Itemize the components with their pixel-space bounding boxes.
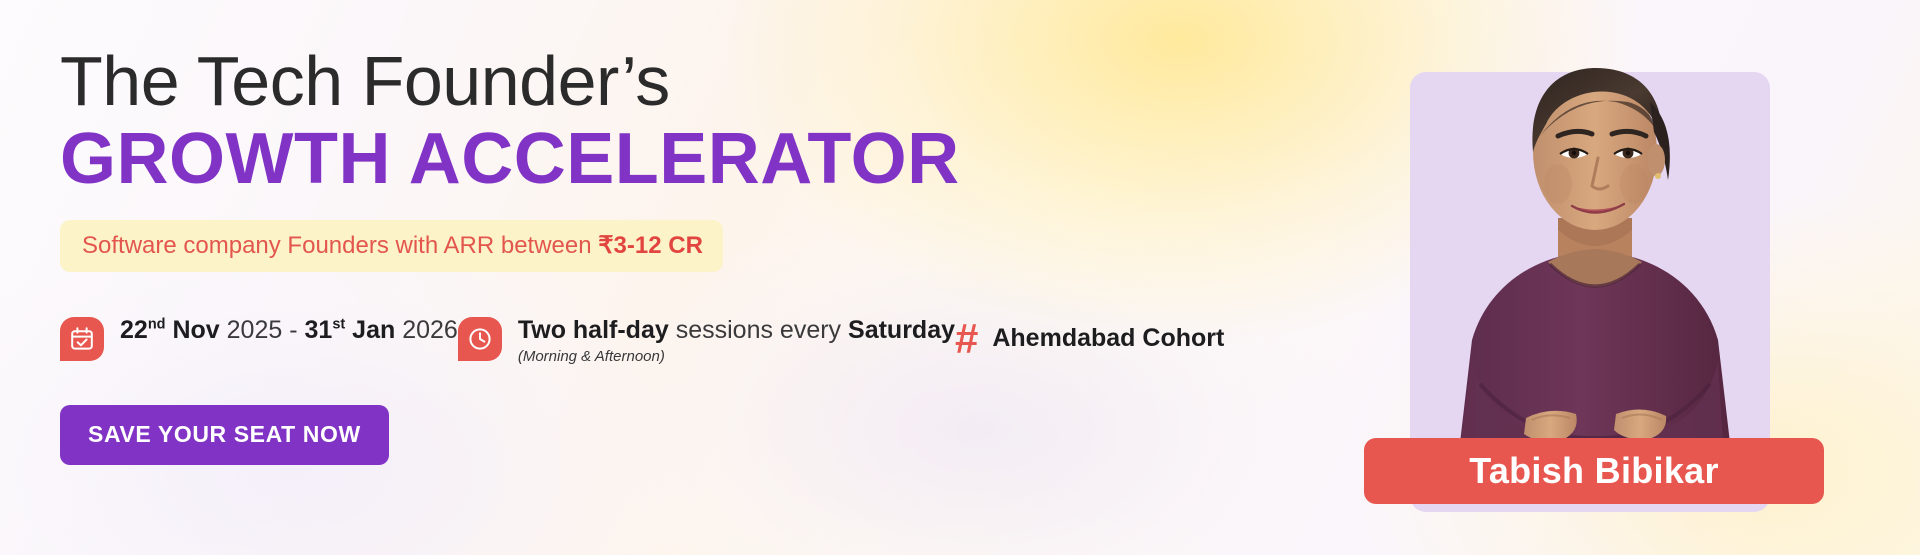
hash-icon: #: [955, 318, 978, 360]
speaker-section: Tabish Bibikar: [1360, 0, 1920, 555]
date-end-day: 31: [305, 316, 333, 344]
speaker-portrait: [1380, 40, 1810, 460]
sessions-subtext: (Morning & Afternoon): [518, 348, 955, 365]
date-start-year: 2025: [227, 316, 283, 344]
dates-text-block: 22nd Nov 2025 - 31st Jan 2026: [120, 316, 458, 345]
info-item-sessions: Two half-day sessions every Saturday (Mo…: [458, 316, 955, 366]
clock-icon: [458, 317, 502, 361]
eligibility-badge: Software company Founders with ARR betwe…: [60, 220, 723, 272]
date-end-ordinal: st: [332, 316, 345, 332]
date-start-day: 22: [120, 316, 148, 344]
sessions-bold-lead: Two half-day: [518, 316, 669, 344]
eligibility-prefix: Software company Founders with ARR betwe…: [82, 232, 598, 259]
headline-secondary: GROWTH ACCELERATOR: [60, 122, 1160, 198]
speaker-nameplate: Tabish Bibikar: [1364, 438, 1824, 504]
date-end-month: Jan: [345, 316, 402, 344]
speaker-name: Tabish Bibikar: [1469, 450, 1719, 492]
headline-primary: The Tech Founder’s: [60, 46, 1160, 116]
sessions-line: Two half-day sessions every Saturday: [518, 316, 955, 345]
date-end-year: 2026: [402, 316, 458, 344]
promo-banner: The Tech Founder’s GROWTH ACCELERATOR So…: [0, 0, 1920, 555]
save-your-seat-button[interactable]: SAVE YOUR SEAT NOW: [60, 405, 389, 465]
date-start-ordinal: nd: [148, 316, 166, 332]
sessions-middle: sessions every: [669, 316, 848, 344]
eligibility-arr-range: ₹3-12 CR: [598, 232, 703, 259]
sessions-text-block: Two half-day sessions every Saturday (Mo…: [518, 316, 955, 366]
info-item-dates: 22nd Nov 2025 - 31st Jan 2026: [60, 316, 458, 361]
date-start-month: Nov: [166, 316, 227, 344]
calendar-check-icon: [60, 317, 104, 361]
dates-line: 22nd Nov 2025 - 31st Jan 2026: [120, 316, 458, 345]
banner-content: The Tech Founder’s GROWTH ACCELERATOR So…: [60, 46, 1160, 465]
info-item-cohort: # Ahemdabad Cohort: [955, 318, 1224, 360]
event-info-row: 22nd Nov 2025 - 31st Jan 2026 Two half-d…: [60, 316, 1160, 366]
sessions-bold-tail: Saturday: [848, 316, 955, 344]
date-separator: -: [282, 316, 304, 344]
cohort-label: Ahemdabad Cohort: [992, 324, 1224, 353]
